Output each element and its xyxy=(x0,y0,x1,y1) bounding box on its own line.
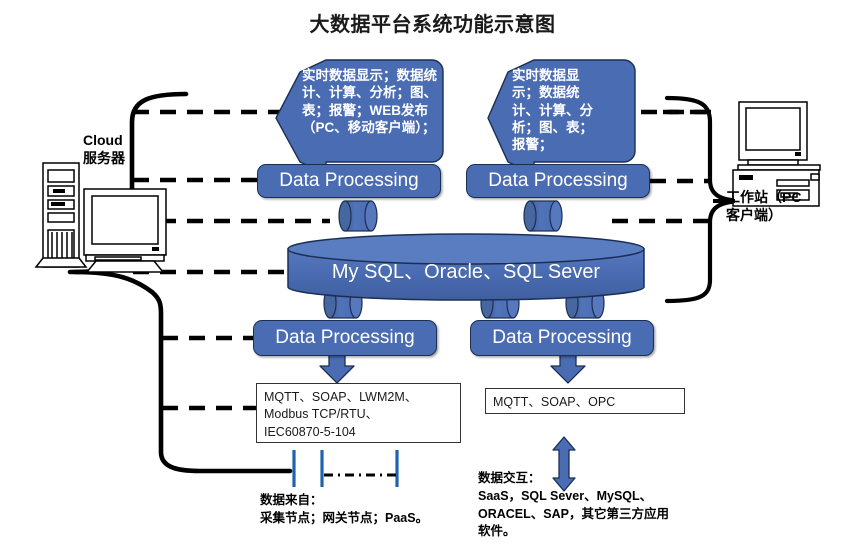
workstation-label-line1: 工作站（PC xyxy=(726,189,846,207)
dp-bottom-right-label: Data Processing xyxy=(492,327,631,349)
dp-bottom-right-box[interactable]: Data Processing xyxy=(470,320,654,356)
dp-bottom-left-label: Data Processing xyxy=(275,327,414,349)
pipe-top-right xyxy=(524,201,562,231)
dp-top-left-box[interactable]: Data Processing xyxy=(257,164,441,198)
cloud-server-label: Cloud 服务器 xyxy=(83,132,173,167)
protocol-right-box: MQTT、SOAP、OPC xyxy=(485,388,685,414)
workstation-label: 工作站（PC 客户端） xyxy=(726,189,846,224)
bubble-left-text: 实时数据显示；数据统计、计算、分析；图、表；报警；WEB发布（PC、移动客户端）… xyxy=(302,67,438,136)
cloud-server-label-line1: Cloud xyxy=(83,132,173,150)
note-data-exchange: 数据交互： SaaS，SQL Sever、MySQL、 ORACEL、SAP，其… xyxy=(478,470,728,541)
dp-top-right-label: Data Processing xyxy=(488,170,627,192)
cloud-server-label-line2: 服务器 xyxy=(83,150,173,168)
dp-top-left-label: Data Processing xyxy=(279,170,418,192)
protocol-left-text: MQTT、SOAP、LWM2M、 Modbus TCP/RTU、 IEC6087… xyxy=(264,390,417,439)
bubble-right: 实时数据显示；数据统计、计算、分析；图、表；报警； xyxy=(486,58,636,168)
bubble-right-text: 实时数据显示；数据统计、计算、分析；图、表；报警； xyxy=(512,67,596,153)
note-data-source: 数据来自： 采集节点；网关节点；PaaS。 xyxy=(260,492,500,528)
pipe-top-left xyxy=(339,201,377,231)
dp-top-right-box[interactable]: Data Processing xyxy=(466,164,650,198)
diagram-canvas: 大数据平台系统功能示意图 xyxy=(0,0,865,548)
data-source-ticks xyxy=(294,450,397,487)
protocol-left-box: MQTT、SOAP、LWM2M、 Modbus TCP/RTU、 IEC6087… xyxy=(256,383,461,443)
workstation-label-line2: 客户端） xyxy=(726,207,846,225)
database-label: My SQL、Oracle、SQL Sever xyxy=(288,255,644,284)
arrow-up-right xyxy=(551,354,585,383)
bubble-left: 实时数据显示；数据统计、计算、分析；图、表；报警；WEB发布（PC、移动客户端）… xyxy=(274,58,444,168)
arrow-up-left xyxy=(320,354,354,383)
dp-bottom-left-box[interactable]: Data Processing xyxy=(253,320,437,356)
protocol-right-text: MQTT、SOAP、OPC xyxy=(493,395,615,409)
